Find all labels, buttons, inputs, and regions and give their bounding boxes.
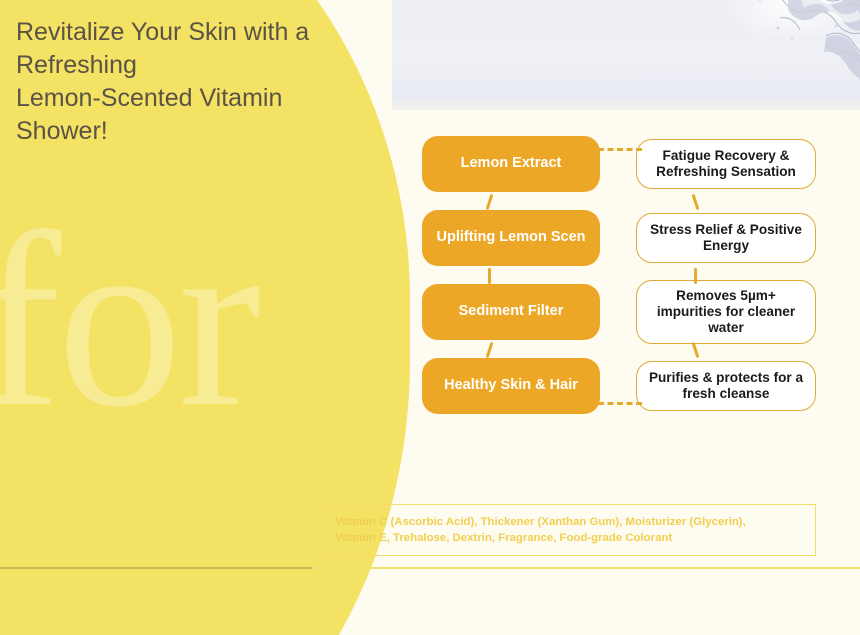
slide-canvas: for Revitalize Your Skin with a Refreshi…	[0, 0, 860, 635]
connector-left-2	[488, 268, 491, 284]
page-title: Revitalize Your Skin with a Refreshing L…	[16, 16, 376, 148]
flow-benefit-stress-relief[interactable]: Stress Relief & Positive Energy	[636, 213, 816, 263]
flow-benefit-removes-impurities[interactable]: Removes 5µm+ impurities for cleaner wate…	[636, 280, 816, 345]
flow-benefit-purifies-protects[interactable]: Purifies & protects for a fresh cleanse	[636, 361, 816, 411]
flow-source-uplifting-lemon-scent[interactable]: Uplifting Lemon Scen	[422, 210, 600, 266]
flow-row: Healthy Skin & Hair Purifies & protects …	[422, 358, 816, 414]
watermark-text: for	[0, 196, 258, 446]
ingredients-box: Vitamin C (Ascorbic Acid), Thickener (Xa…	[320, 504, 816, 556]
flow-row: Uplifting Lemon Scen Stress Relief & Pos…	[422, 210, 816, 266]
flow-source-sediment-filter[interactable]: Sediment Filter	[422, 284, 600, 340]
connector-left-3	[486, 342, 494, 358]
connector-bridge-top	[598, 148, 642, 151]
connector-right-1	[692, 194, 700, 210]
connector-bridge-bottom	[598, 402, 642, 405]
divider-line-over-yellow	[0, 567, 312, 569]
flow-row: Lemon Extract Fatigue Recovery & Refresh…	[422, 136, 816, 192]
flow-row: Sediment Filter Removes 5µm+ impurities …	[422, 284, 816, 340]
water-splash-icon	[640, 0, 860, 110]
flow-source-lemon-extract[interactable]: Lemon Extract	[422, 136, 600, 192]
connector-right-3	[692, 342, 700, 358]
water-splash-banner	[392, 0, 860, 110]
connector-left-1	[486, 194, 494, 210]
flow-benefit-fatigue-recovery[interactable]: Fatigue Recovery & Refreshing Sensation	[636, 139, 816, 189]
connector-right-2	[694, 268, 697, 284]
flow-source-healthy-skin-hair[interactable]: Healthy Skin & Hair	[422, 358, 600, 414]
benefits-flow-diagram: Lemon Extract Fatigue Recovery & Refresh…	[422, 136, 816, 416]
